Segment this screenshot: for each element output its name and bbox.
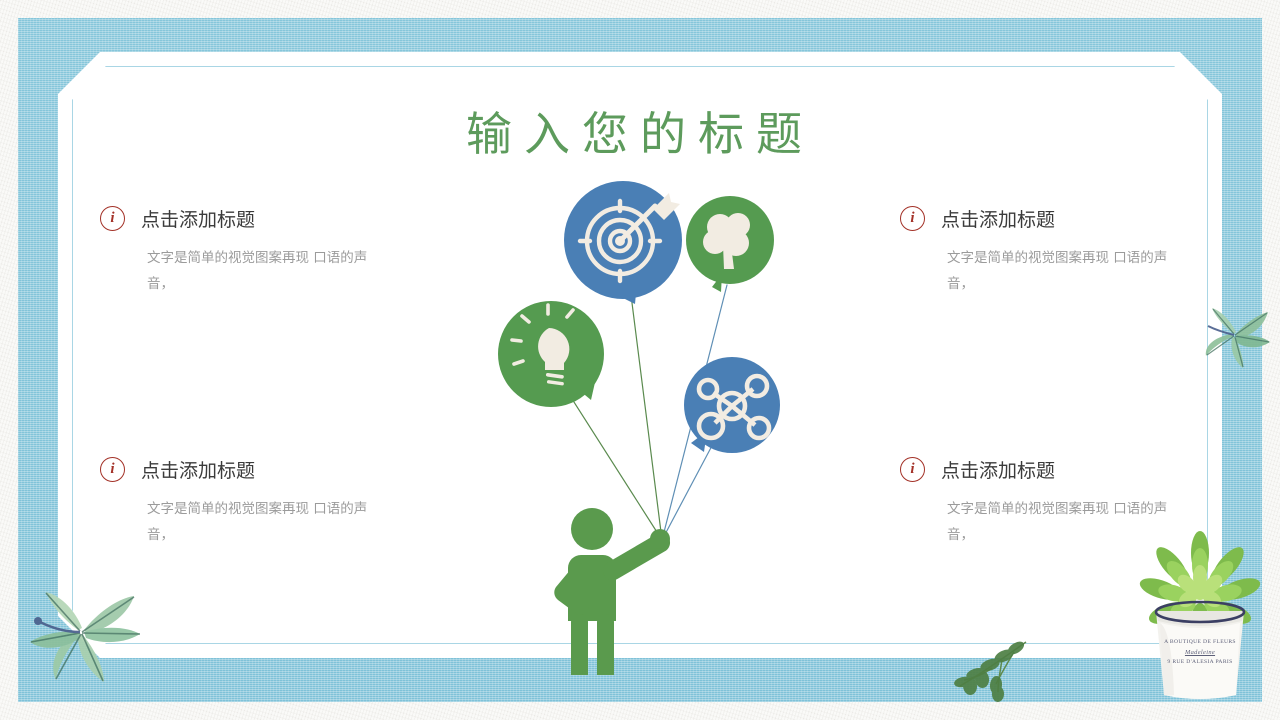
content-block-top-left[interactable]: i 点击添加标题 文字是简单的视觉图案再现 口语的声音， <box>100 205 400 298</box>
page-title: 输入您的标题 <box>0 98 1280 164</box>
content-block-bottom-left[interactable]: i 点击添加标题 文字是简单的视觉图案再现 口语的声音， <box>100 456 400 549</box>
block-body-text: 文字是简单的视觉图案再现 口语的声音， <box>147 245 379 298</box>
content-block-top-right[interactable]: i 点击添加标题 文字是简单的视觉图案再现 口语的声音， <box>900 205 1200 298</box>
block-body-text: 文字是简单的视觉图案再现 口语的声音， <box>947 496 1179 549</box>
block-heading-row: i 点击添加标题 <box>100 456 400 483</box>
block-body-text: 文字是简单的视觉图案再现 口语的声音， <box>947 245 1179 298</box>
block-heading-row: i 点击添加标题 <box>900 205 1200 232</box>
block-title: 点击添加标题 <box>141 205 255 232</box>
info-circle-icon: i <box>100 457 125 482</box>
stick-figure <box>554 508 670 675</box>
balloon-lightbulb <box>498 301 604 407</box>
balloon-molecule <box>684 357 780 453</box>
balloon-target <box>564 181 682 304</box>
info-circle-icon: i <box>900 206 925 231</box>
content-block-bottom-right[interactable]: i 点击添加标题 文字是简单的视觉图案再现 口语的声音， <box>900 456 1200 549</box>
block-title: 点击添加标题 <box>941 456 1055 483</box>
balloon-tree <box>686 196 774 292</box>
info-circle-icon: i <box>900 457 925 482</box>
block-body-text: 文字是简单的视觉图案再现 口语的声音， <box>147 496 379 549</box>
block-heading-row: i 点击添加标题 <box>900 456 1200 483</box>
slide-canvas: 输入您的标题 i 点击添加标题 文字是简单的视觉图案再现 口语的声音， i 点击… <box>0 0 1280 720</box>
info-circle-icon: i <box>100 206 125 231</box>
block-title: 点击添加标题 <box>941 205 1055 232</box>
block-heading-row: i 点击添加标题 <box>100 205 400 232</box>
block-title: 点击添加标题 <box>141 456 255 483</box>
person-holding-balloons-illustration <box>455 165 825 675</box>
